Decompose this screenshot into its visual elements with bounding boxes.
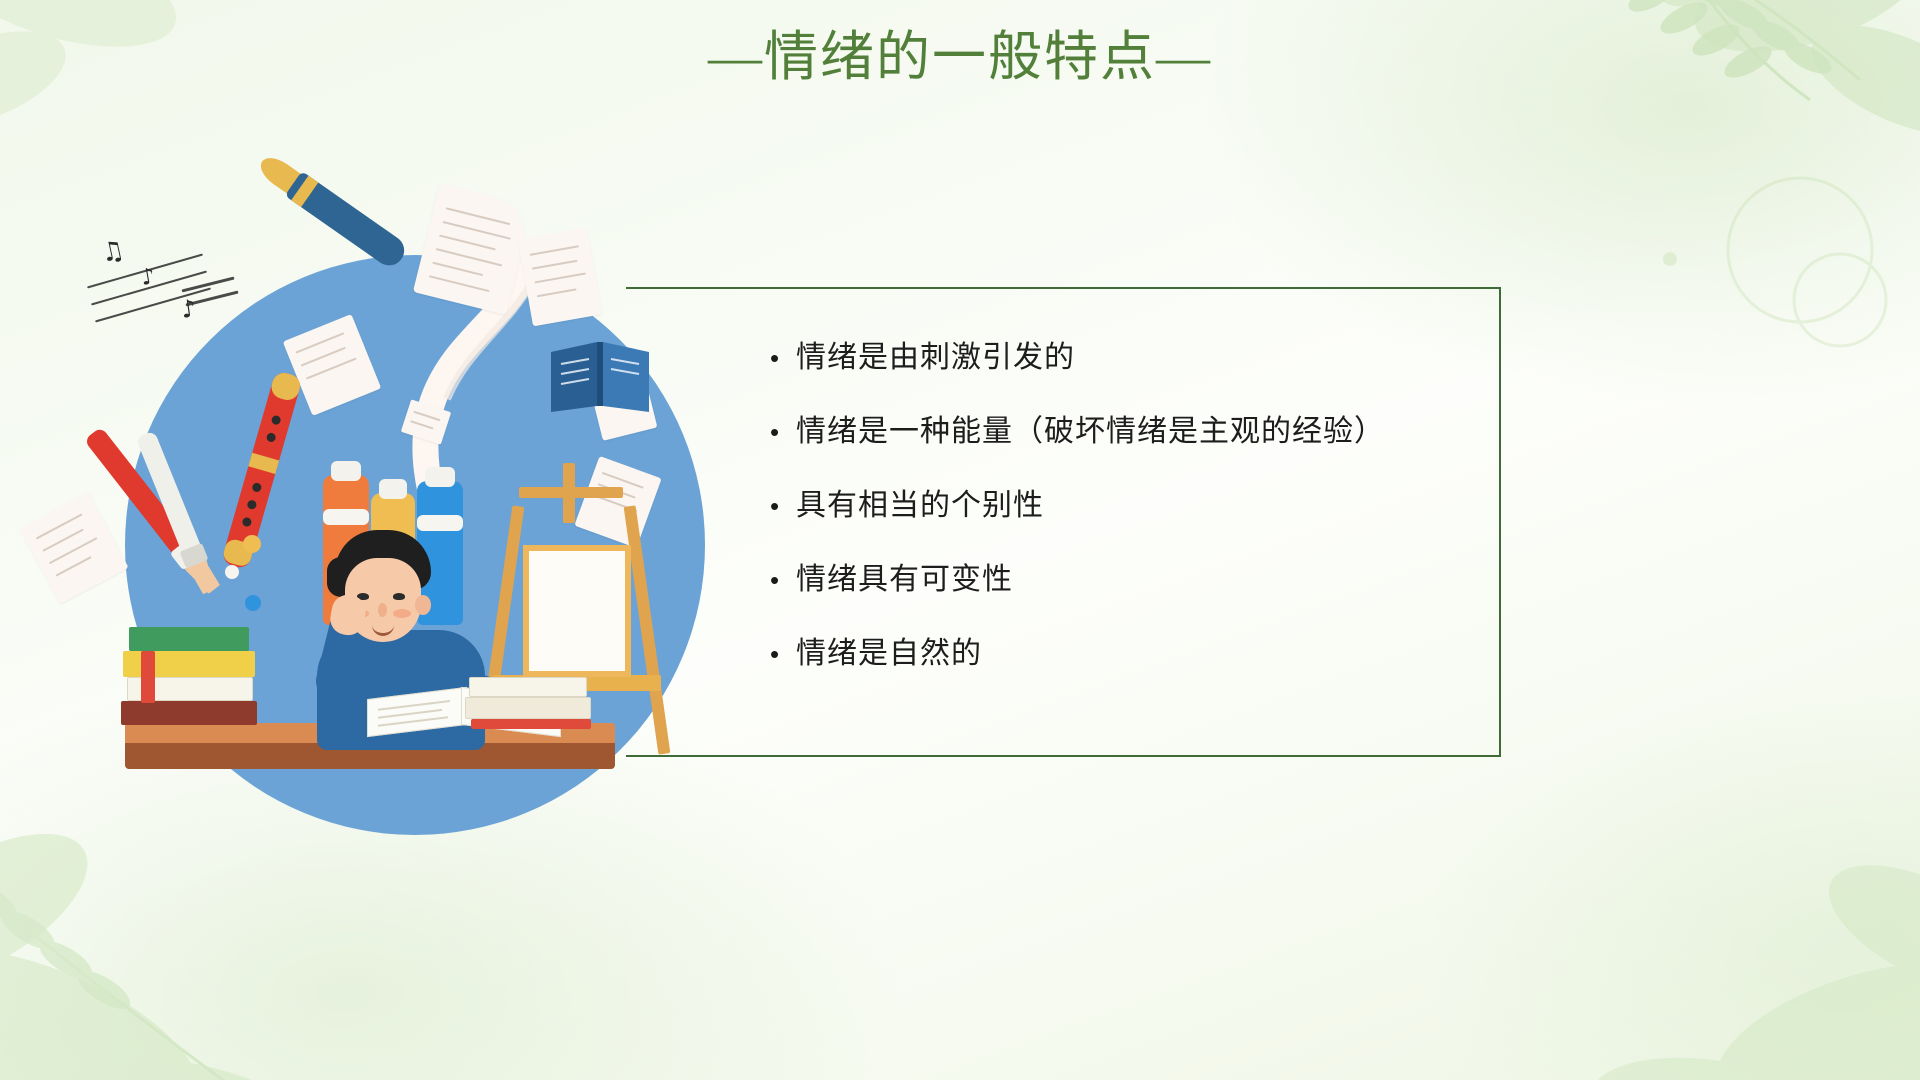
list-item: • 情绪是一种能量（破坏情绪是主观的经验） — [770, 412, 1470, 452]
paint-tube-yellow-cap — [379, 479, 407, 499]
list-item: • 具有相当的个别性 — [770, 486, 1470, 526]
list-item: • 情绪是自然的 — [770, 634, 1470, 674]
leaf-watermark-bottom-right — [1460, 810, 1920, 1080]
paint-tube-blue-band — [417, 515, 463, 531]
student-studying-illustration: ♫ ♪ ♪ — [95, 175, 725, 835]
slide-canvas: —情绪的一般特点— ♫ ♪ ♪ — [0, 0, 1920, 1080]
paint-tube-orange-band — [323, 509, 369, 525]
book-stack-left-1 — [129, 627, 249, 651]
student-nose — [378, 603, 387, 617]
paint-drop-white — [225, 565, 239, 579]
easel-crossbar-top — [519, 487, 623, 498]
bullet-marker: • — [770, 412, 796, 452]
student-ear — [415, 595, 431, 615]
paint-tube-blue-cap — [425, 467, 455, 487]
paint-brushes — [65, 400, 255, 620]
leaf-watermark-right-middle — [1650, 140, 1910, 370]
list-item: • 情绪具有可变性 — [770, 560, 1470, 600]
bullet-marker: • — [770, 634, 796, 674]
book-stack-right-3 — [471, 719, 591, 729]
flying-paper-2 — [518, 228, 602, 327]
bullet-label: 情绪具有可变性 — [796, 560, 1013, 600]
paint-drop-blue — [245, 595, 261, 611]
easel-canvas — [523, 545, 631, 677]
bullet-label: 情绪是由刺激引发的 — [796, 338, 1075, 378]
bullet-list: • 情绪是由刺激引发的 • 情绪是一种能量（破坏情绪是主观的经验） • 具有相当… — [770, 338, 1470, 708]
paint-drop-yellow — [243, 535, 261, 553]
bullet-label: 情绪是自然的 — [796, 634, 982, 674]
bullet-marker: • — [770, 486, 796, 526]
book-stack-right-1 — [469, 677, 587, 697]
list-item: • 情绪是由刺激引发的 — [770, 338, 1470, 378]
book-stack-right-2 — [465, 697, 591, 719]
page-title: —情绪的一般特点— — [0, 24, 1920, 90]
student-eye-right — [393, 593, 405, 600]
bullet-marker: • — [770, 560, 796, 600]
decorative-dot-right — [1663, 252, 1677, 266]
student-blush-right — [393, 609, 411, 618]
paint-tube-orange-cap — [331, 461, 361, 481]
bullet-marker: • — [770, 338, 796, 378]
bullet-label: 具有相当的个别性 — [796, 486, 1044, 526]
open-book-icon — [545, 330, 655, 420]
book-stack-left-bookmark — [141, 651, 155, 703]
title-container: —情绪的一般特点— — [0, 24, 1920, 90]
book-stack-left-4 — [121, 701, 257, 725]
bullet-label: 情绪是一种能量（破坏情绪是主观的经验） — [796, 412, 1385, 452]
